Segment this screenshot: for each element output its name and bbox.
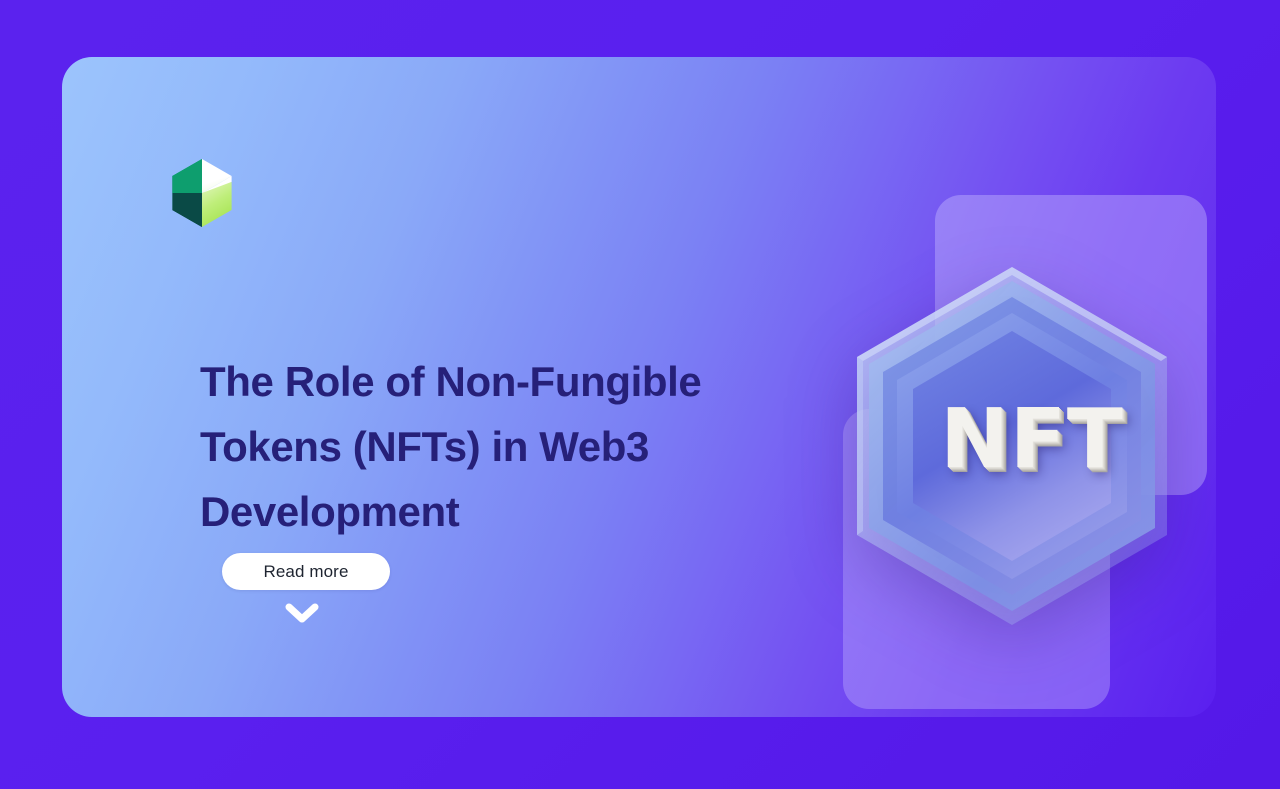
page-background: The Role of Non-Fungible Tokens (NFTs) i… — [0, 0, 1280, 789]
hexagon-cube-logo[interactable] — [165, 156, 239, 230]
read-more-button[interactable]: Read more — [222, 553, 390, 590]
layered-hexagon-badge — [847, 261, 1177, 631]
page-title: The Role of Non-Fungible Tokens (NFTs) i… — [200, 349, 840, 544]
nft-artwork: NFT — [802, 137, 1216, 717]
chevron-down-icon[interactable] — [284, 600, 320, 626]
banner-card: The Role of Non-Fungible Tokens (NFTs) i… — [62, 57, 1216, 717]
